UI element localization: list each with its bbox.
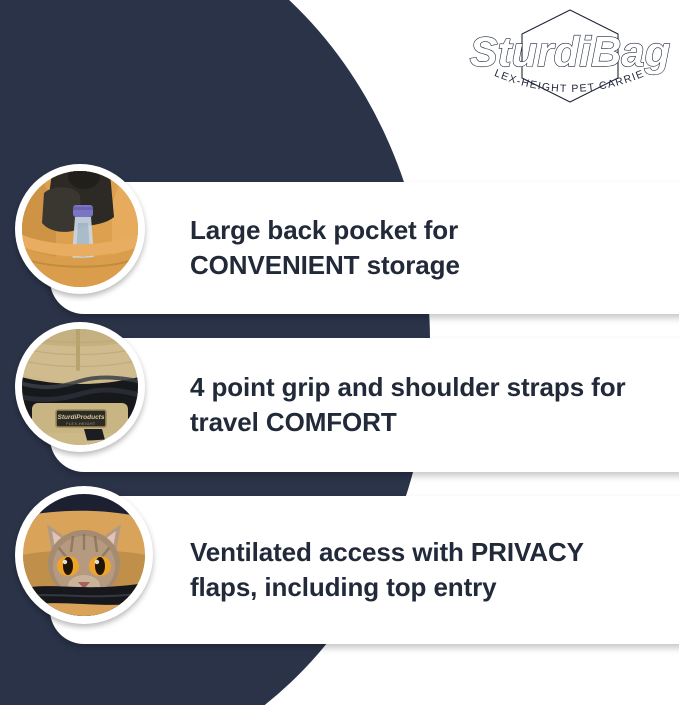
- feature-text-ventilated-access: Ventilated access with PRIVACY flaps, in…: [190, 535, 671, 604]
- feature-line-2: CONVENIENT storage: [190, 248, 671, 283]
- feature-line-2: flaps, including top entry: [190, 570, 671, 605]
- cat-top-entry-image: [23, 494, 145, 616]
- feature-thumbnail-shoulder-straps: SturdiProducts FLEX-HEIGHT: [15, 322, 145, 452]
- feature-thumbnail-back-pocket: [15, 164, 145, 294]
- logo-brand-text: SturdiBag: [470, 28, 671, 75]
- feature-line-1: Large back pocket for: [190, 213, 671, 248]
- feature-card-back-pocket: Large back pocket for CONVENIENT storage: [50, 182, 679, 314]
- feature-text-back-pocket: Large back pocket for CONVENIENT storage: [190, 213, 671, 282]
- feature-line-2: travel COMFORT: [190, 405, 671, 440]
- feature-line-1: 4 point grip and shoulder straps for: [190, 370, 671, 405]
- shoulder-strap-image: SturdiProducts FLEX-HEIGHT: [22, 329, 138, 445]
- sturdibag-logo: SturdiBag FLEX-HEIGHT PET CARRIER: [467, 4, 673, 116]
- feature-card-shoulder-straps: SturdiProducts FLEX-HEIGHT 4 point grip …: [50, 338, 679, 472]
- feature-thumbnail-ventilated-access: [15, 486, 153, 624]
- svg-text:FLEX-HEIGHT: FLEX-HEIGHT: [66, 422, 96, 426]
- feature-line-1: Ventilated access with PRIVACY: [190, 535, 671, 570]
- feature-text-shoulder-straps: 4 point grip and shoulder straps for tra…: [190, 370, 671, 439]
- feature-card-ventilated-access: Ventilated access with PRIVACY flaps, in…: [50, 496, 679, 644]
- svg-text:SturdiProducts: SturdiProducts: [58, 414, 105, 421]
- back-pocket-image: [22, 171, 138, 287]
- product-feature-infographic: SturdiBag FLEX-HEIGHT PET CARRIER: [0, 0, 679, 705]
